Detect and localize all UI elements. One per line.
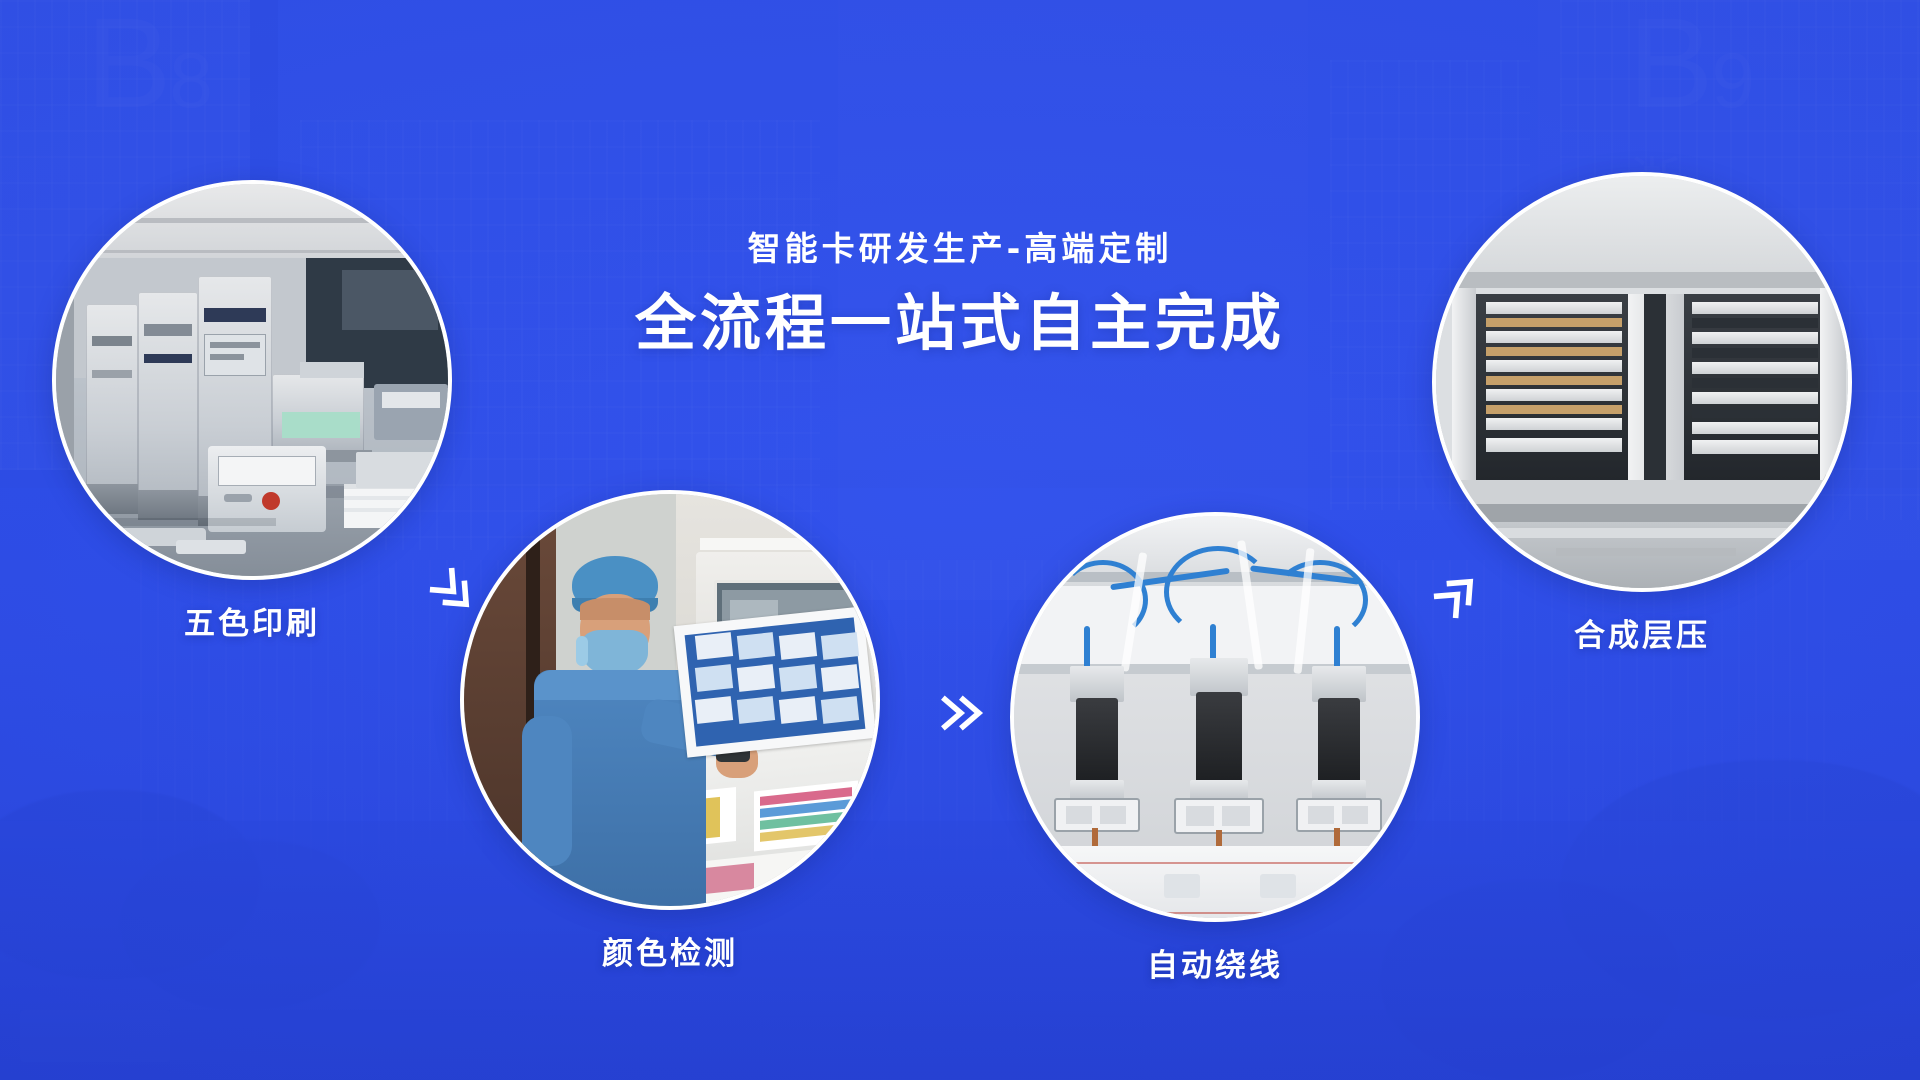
page-title: 全流程一站式自主完成 (0, 291, 1920, 357)
winding-photo-circle[interactable] (1010, 512, 1420, 922)
lamination-label: 合成层压 (1574, 610, 1710, 655)
process-step-winding[interactable]: 自动绕线 (1010, 512, 1420, 922)
winding-label: 自动绕线 (1147, 940, 1283, 985)
color-check-photo-circle[interactable] (460, 490, 880, 910)
winding-photo (1014, 516, 1416, 918)
color-check-label: 颜色检测 (602, 928, 738, 973)
printing-label: 五色印刷 (184, 598, 320, 643)
headings-block: 智能卡研发生产-高端定制 全流程一站式自主完成 (0, 232, 1920, 357)
arrow-color-check-to-winding (936, 686, 990, 740)
banner-stage: B8 B9 浙 智能卡研发生产-高端定制 全流程一站式自主完成 (0, 0, 1920, 1080)
process-step-color-check[interactable]: 颜色检测 (460, 490, 880, 910)
double-chevron-icon (936, 686, 990, 740)
color-check-photo (464, 494, 876, 906)
subtitle: 智能卡研发生产-高端定制 (0, 232, 1920, 265)
